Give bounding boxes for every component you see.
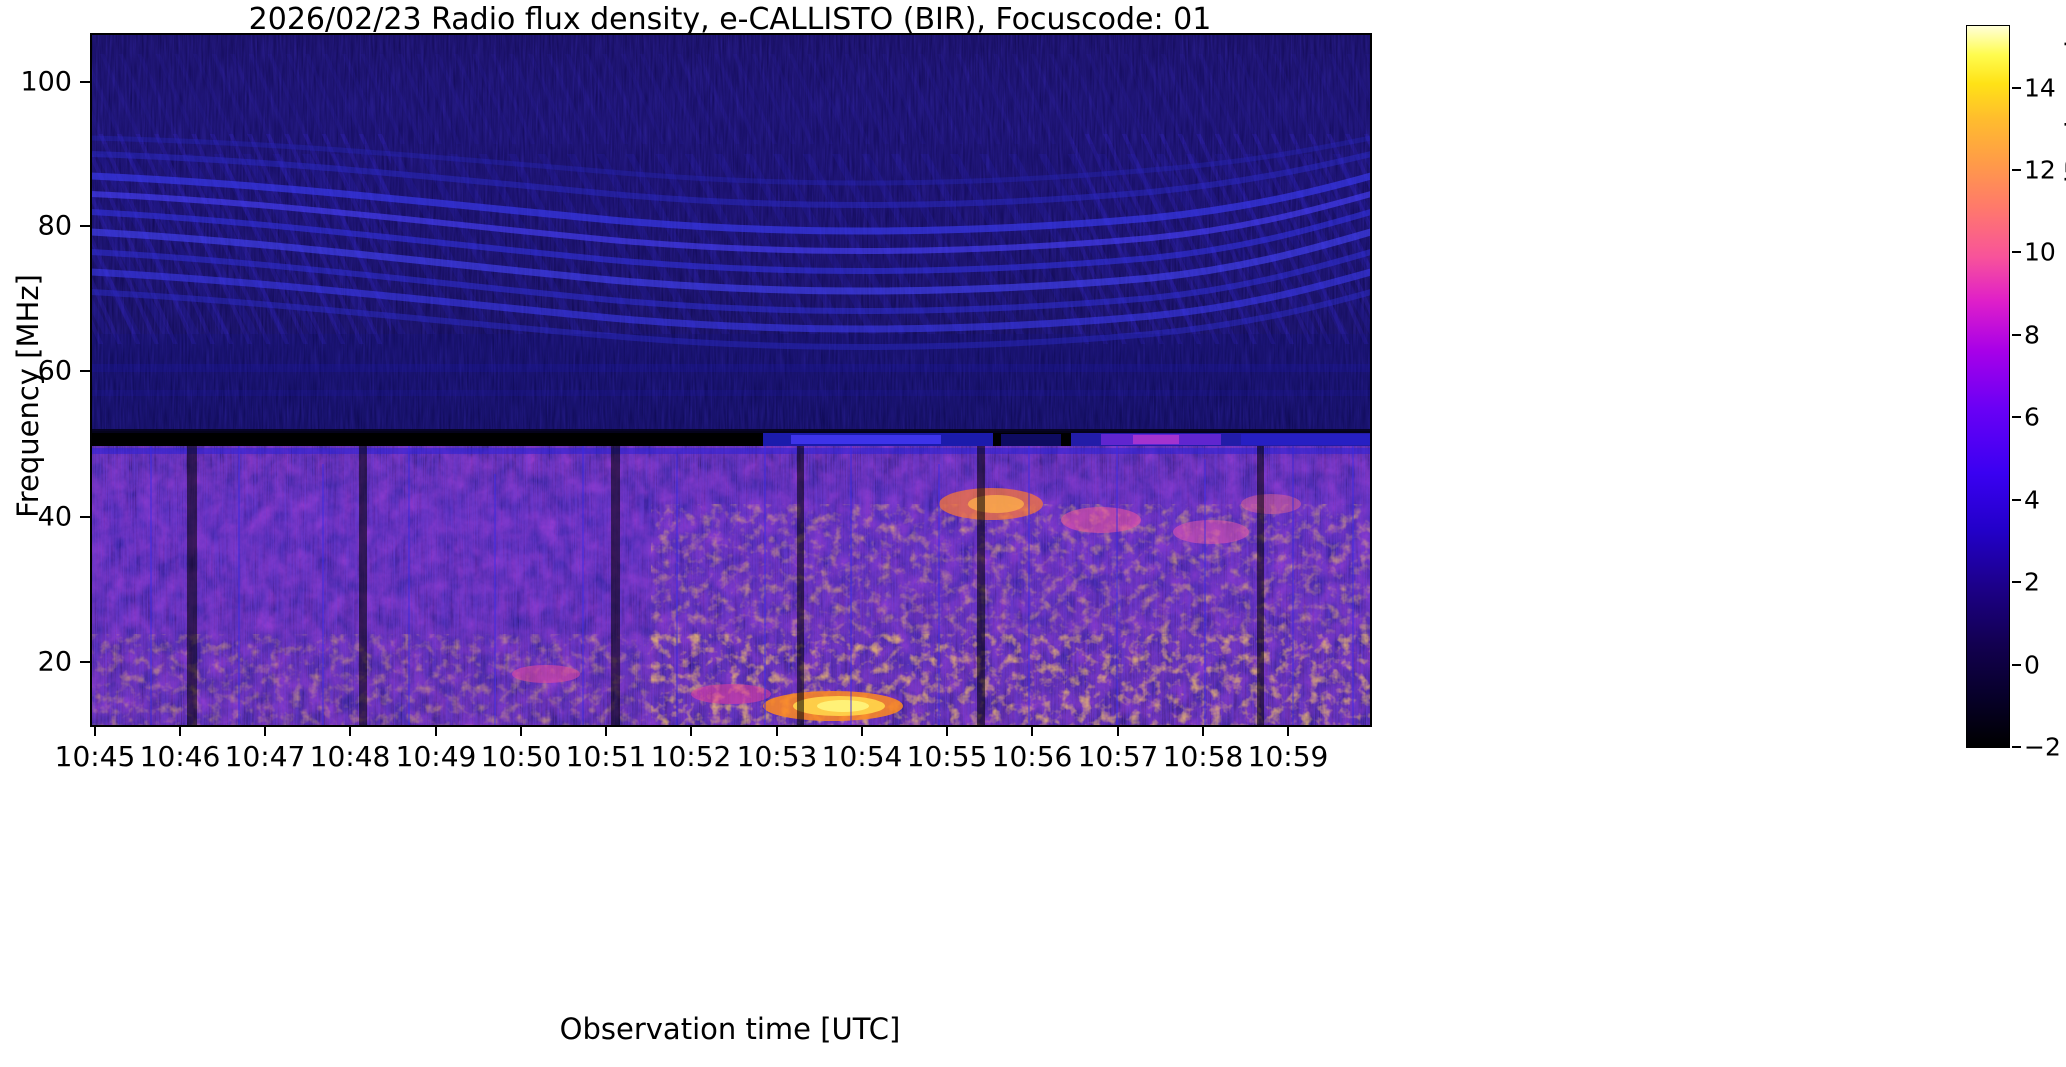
spectrogram-plot [90, 33, 1372, 727]
colorbar-tick-label: 8 [2024, 321, 2040, 350]
y-tick-mark [80, 81, 90, 83]
x-tick-mark [776, 726, 778, 736]
x-tick-label: 10:57 [1078, 740, 1159, 773]
colorbar-tick-mark [2012, 416, 2021, 418]
x-tick-mark [690, 726, 692, 736]
colorbar-tick-mark [2012, 251, 2021, 253]
x-tick-mark [1202, 726, 1204, 736]
colorbar-tick-mark [2012, 334, 2021, 336]
colorbar-tick-mark [2012, 499, 2021, 501]
x-tick-mark [861, 726, 863, 736]
x-tick-label: 10:51 [566, 740, 647, 773]
colorbar-tick-label: 10 [2024, 238, 2056, 267]
x-tick-mark [264, 726, 266, 736]
colorbar-label: dB above background [2060, 0, 2066, 385]
x-tick-label: 10:46 [140, 740, 221, 773]
x-tick-label: 10:55 [907, 740, 988, 773]
x-tick-label: 10:59 [1248, 740, 1329, 773]
x-tick-label: 10:49 [396, 740, 477, 773]
x-tick-mark [1031, 726, 1033, 736]
y-axis-label: Frequency [MHz] [11, 16, 45, 776]
figure-title: 2026/02/23 Radio flux density, e-CALLIST… [0, 2, 1460, 37]
colorbar-tick-mark [2012, 746, 2021, 748]
figure-root: 2026/02/23 Radio flux density, e-CALLIST… [0, 0, 2066, 1067]
colorbar-tick-mark [2012, 664, 2021, 666]
colorbar-tick-label: 4 [2024, 486, 2040, 515]
x-tick-mark [435, 726, 437, 736]
colorbar-tick-label: 12 [2024, 156, 2056, 185]
x-tick-mark [94, 726, 96, 736]
x-tick-label: 10:48 [310, 740, 391, 773]
colorbar-tick-label: 2 [2024, 568, 2040, 597]
x-tick-label: 10:58 [1163, 740, 1244, 773]
x-tick-mark [946, 726, 948, 736]
y-tick-mark [80, 370, 90, 372]
x-tick-label: 10:54 [822, 740, 903, 773]
colorbar-gradient [1966, 25, 2010, 748]
colorbar-tick-label: 14 [2024, 74, 2056, 103]
x-tick-mark [179, 726, 181, 736]
x-tick-mark [349, 726, 351, 736]
x-axis-label: Observation time [UTC] [90, 1012, 1370, 1046]
y-tick-mark [80, 661, 90, 663]
x-tick-label: 10:45 [55, 740, 136, 773]
spectrogram-image [91, 34, 1371, 726]
colorbar-tick-label: 6 [2024, 403, 2040, 432]
x-tick-label: 10:47 [225, 740, 306, 773]
y-tick-mark [80, 516, 90, 518]
x-tick-mark [1117, 726, 1119, 736]
x-tick-label: 10:56 [992, 740, 1073, 773]
x-tick-label: 10:50 [481, 740, 562, 773]
colorbar-tick-mark [2012, 87, 2021, 89]
colorbar-tick-label: −2 [2024, 733, 2061, 762]
x-tick-mark [520, 726, 522, 736]
x-tick-label: 10:52 [651, 740, 732, 773]
x-tick-mark [1287, 726, 1289, 736]
x-tick-label: 10:53 [737, 740, 818, 773]
colorbar-tick-mark [2012, 581, 2021, 583]
colorbar-tick-mark [2012, 169, 2021, 171]
y-tick-mark [80, 225, 90, 227]
colorbar-tick-label: 0 [2024, 651, 2040, 680]
x-tick-mark [605, 726, 607, 736]
